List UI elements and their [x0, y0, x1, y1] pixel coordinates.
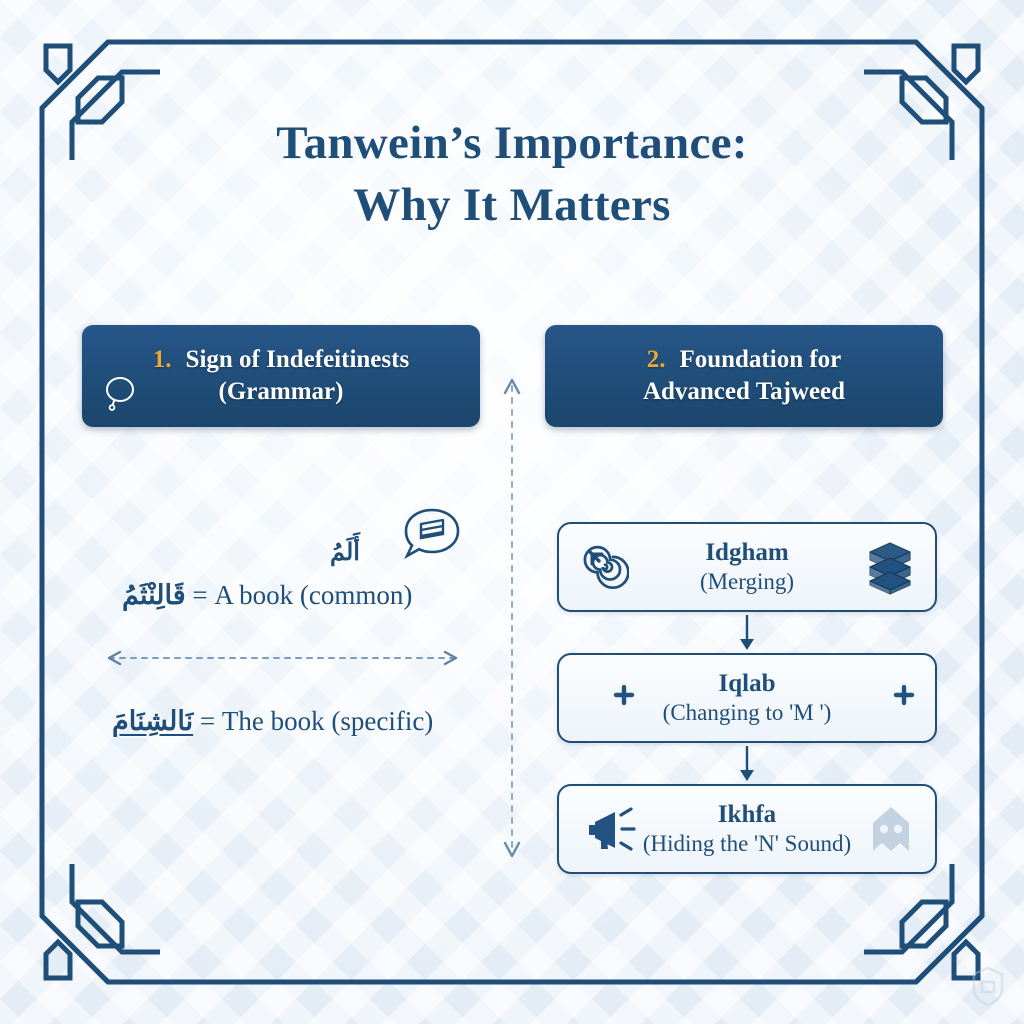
section-header-2-title: Foundation for — [679, 346, 841, 373]
megaphone-icon — [581, 805, 639, 853]
tajweed-rule-ikhfa-sub: (Hiding the 'N' Sound) — [643, 830, 851, 858]
center-vertical-double-arrow — [498, 372, 526, 864]
section-header-card-2[interactable]: 2.Foundation for Advanced Tajweed — [545, 325, 943, 427]
example-2-arabic: نَالشِنَامَ — [112, 706, 193, 736]
tajweed-rule-idgham-name: Idgham — [705, 538, 788, 569]
crescent-plus-icon — [861, 674, 915, 722]
example-row-1: قَالِنْثَمُ = A book (common) — [122, 580, 412, 611]
tajweed-rule-iqlab-sub: (Changing to 'M ') — [663, 699, 832, 727]
page-title-line2: Why It Matters — [0, 174, 1024, 236]
spiral-icon — [581, 543, 629, 591]
tajweed-rule-idgham-sub: (Merging) — [700, 568, 794, 596]
layers-icon — [865, 539, 915, 595]
down-arrow-idgham-to-iqlab — [733, 613, 761, 653]
section-number-1: 1. — [153, 346, 172, 373]
section-header-1-line2: (Grammar) — [219, 376, 344, 408]
section-header-1-title: Sign of Indefeitinests — [186, 346, 410, 373]
tajweed-rule-card-idgham[interactable]: Idgham (Merging) — [557, 522, 937, 612]
tajweed-rule-card-ikhfa[interactable]: Ikhfa (Hiding the 'N' Sound) — [557, 784, 937, 874]
tajweed-rule-card-iqlab[interactable]: Iqlab (Changing to 'M ') — [557, 653, 937, 743]
section-header-2-line1: 2.Foundation for — [647, 344, 842, 376]
tajweed-rule-iqlab-name: Iqlab — [719, 669, 776, 700]
section-header-1-line1: 1.Sign of Indefeitinests — [153, 344, 409, 376]
section-header-1-text: 1.Sign of Indefeitinests (Grammar) — [82, 325, 480, 427]
section-header-card-1[interactable]: 1.Sign of Indefeitinests (Grammar) — [82, 325, 480, 427]
down-arrow-iqlab-to-ikhfa — [733, 744, 761, 784]
example-2-gloss: = The book (specific) — [200, 706, 433, 736]
hidden-face-icon — [867, 803, 915, 855]
section-header-2-text: 2.Foundation for Advanced Tajweed — [545, 325, 943, 427]
section-header-2-line2: Advanced Tajweed — [643, 376, 845, 408]
example-row-2: نَالشِنَامَ = The book (specific) — [112, 706, 433, 737]
example-1-arabic: قَالِنْثَمُ — [122, 580, 186, 610]
horizontal-double-arrow — [95, 645, 470, 671]
tajweed-rule-ikhfa-name: Ikhfa — [718, 800, 776, 831]
page-title-line1: Tanwein’s Importance: — [276, 117, 748, 169]
example-1-gloss: = A book (common) — [192, 580, 412, 610]
page-title: Tanwein’s Importance: Why It Matters — [0, 112, 1024, 236]
arabic-superscript-1: أَلَمُ — [330, 538, 360, 567]
watermark-icon — [966, 964, 1010, 1008]
book-speech-bubble-icon — [397, 506, 467, 570]
crescent-plus-icon — [581, 674, 635, 722]
section-number-2: 2. — [647, 346, 666, 373]
speech-bubble-icon — [100, 373, 140, 413]
